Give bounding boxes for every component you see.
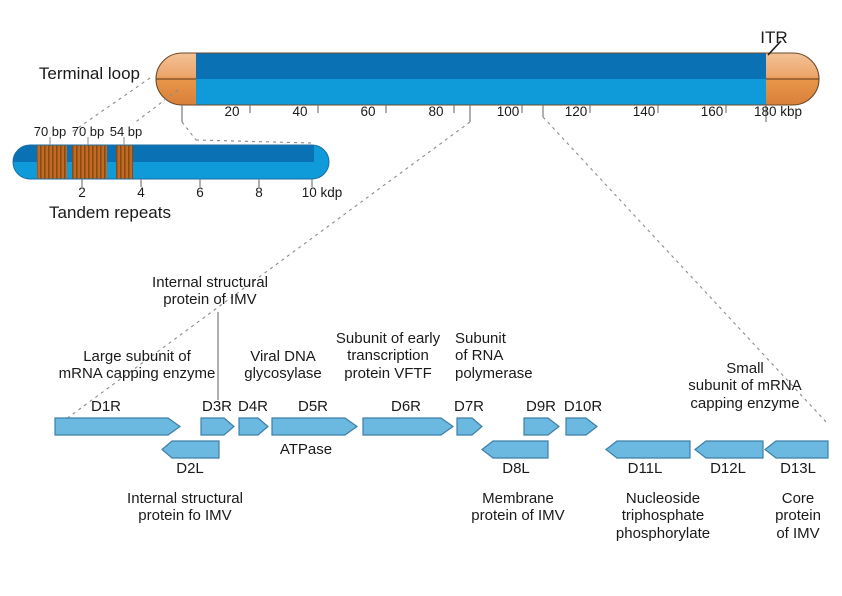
gene-label-D1R: D1R [91, 398, 121, 415]
annotation-D4R-above: Viral DNA glycosylase [244, 348, 322, 383]
terminal-loop-label: Terminal loop [39, 64, 140, 84]
repeat-tick-4: 4 [137, 185, 145, 201]
gene-label-D3R: D3R [202, 398, 232, 415]
tandem-repeats-caption: Tandem repeats [49, 203, 171, 223]
annotation-D1R-above: Large subunit of mRNA capping enzyme [59, 348, 216, 383]
gene-arrow-D11L[interactable] [606, 441, 690, 458]
repeat-tick-10: 10 kdp [302, 185, 343, 201]
gene-arrows-forward [55, 418, 597, 435]
repeat-label-3: 54 bp [110, 124, 143, 139]
genome-core [155, 53, 820, 105]
gene-label-D9R: D9R [526, 398, 556, 415]
gene-arrow-D7R[interactable] [457, 418, 482, 435]
gene-label-D6R: D6R [391, 398, 421, 415]
genome-diagram: Terminal loop ITR 20 40 60 80 100 120 14… [0, 0, 842, 596]
top-ruler [182, 105, 766, 122]
annotation-D5R-above: Subunit of early transcription protein V… [336, 330, 440, 382]
tandem-repeat-bar [12, 145, 329, 179]
gene-arrow-D9R[interactable] [524, 418, 559, 435]
ruler-tick-40: 40 [292, 104, 307, 120]
gene-arrows-reverse [162, 441, 828, 458]
gene-arrow-D2L[interactable] [162, 441, 219, 458]
gene-arrow-D12L[interactable] [695, 441, 763, 458]
annotation-atpase: ATPase [280, 441, 332, 458]
gene-arrow-D4R[interactable] [239, 418, 268, 435]
gene-arrow-D13L[interactable] [765, 441, 828, 458]
gene-arrow-D5R[interactable] [272, 418, 357, 435]
genome-strand-top [196, 53, 766, 79]
tandem-repeat-block-1 [37, 145, 67, 179]
ruler-tick-180: 180 kbp [754, 104, 802, 120]
itr-label: ITR [760, 28, 787, 48]
ruler-tick-100: 100 [497, 104, 520, 120]
repeat-bar-inner [12, 145, 314, 179]
gene-arrow-D3R[interactable] [201, 418, 234, 435]
ruler-tick-20: 20 [224, 104, 239, 120]
annotation-D8L-below: Membrane protein of IMV [471, 490, 564, 525]
gene-arrow-D8L[interactable] [482, 441, 548, 458]
gene-label-D4R: D4R [238, 398, 268, 415]
tandem-repeat-block-3 [116, 145, 133, 179]
gene-arrow-D1R[interactable] [55, 418, 180, 435]
repeat-tick-2: 2 [78, 185, 86, 201]
gene-label-D7R: D7R [454, 398, 484, 415]
gene-arrow-D10R[interactable] [566, 418, 597, 435]
ruler-tick-80: 80 [428, 104, 443, 120]
ruler-tick-140: 140 [633, 104, 656, 120]
genome-strand-bottom [196, 79, 766, 105]
gene-label-D5R: D5R [298, 398, 328, 415]
annotation-D7R-above: Subunit of RNA polymerase [455, 330, 533, 382]
gene-label-D12L: D12L [710, 460, 746, 477]
annotation-D2L-below: Internal structural protein fo IMV [127, 490, 243, 525]
repeat-tick-8: 8 [255, 185, 263, 201]
gene-label-D11L: D11L [628, 460, 663, 477]
gene-label-D13L: D13L [780, 460, 816, 477]
gene-label-D8L: D8L [502, 460, 530, 477]
annotation-D11L-below: Nucleoside triphosphate phosphorylate [616, 490, 710, 542]
top-genome-bar [155, 53, 820, 105]
annotation-D13L-above: Small subunit of mRNA capping enzyme [688, 360, 801, 412]
gene-arrow-D6R[interactable] [363, 418, 453, 435]
ruler-tick-60: 60 [360, 104, 375, 120]
ruler-tick-160: 160 [701, 104, 724, 120]
tandem-repeat-block-2 [72, 145, 107, 179]
annotation-D13L-below: Core protein of IMV [775, 490, 821, 542]
repeat-label-2: 70 bp [72, 124, 105, 139]
gene-label-D2L: D2L [176, 460, 204, 477]
annotation-D3R-above: Internal structural protein of IMV [152, 274, 268, 309]
repeat-tick-6: 6 [196, 185, 204, 201]
gene-label-D10R: D10R [564, 398, 602, 415]
ruler-tick-120: 120 [565, 104, 588, 120]
repeat-label-1: 70 bp [34, 124, 67, 139]
